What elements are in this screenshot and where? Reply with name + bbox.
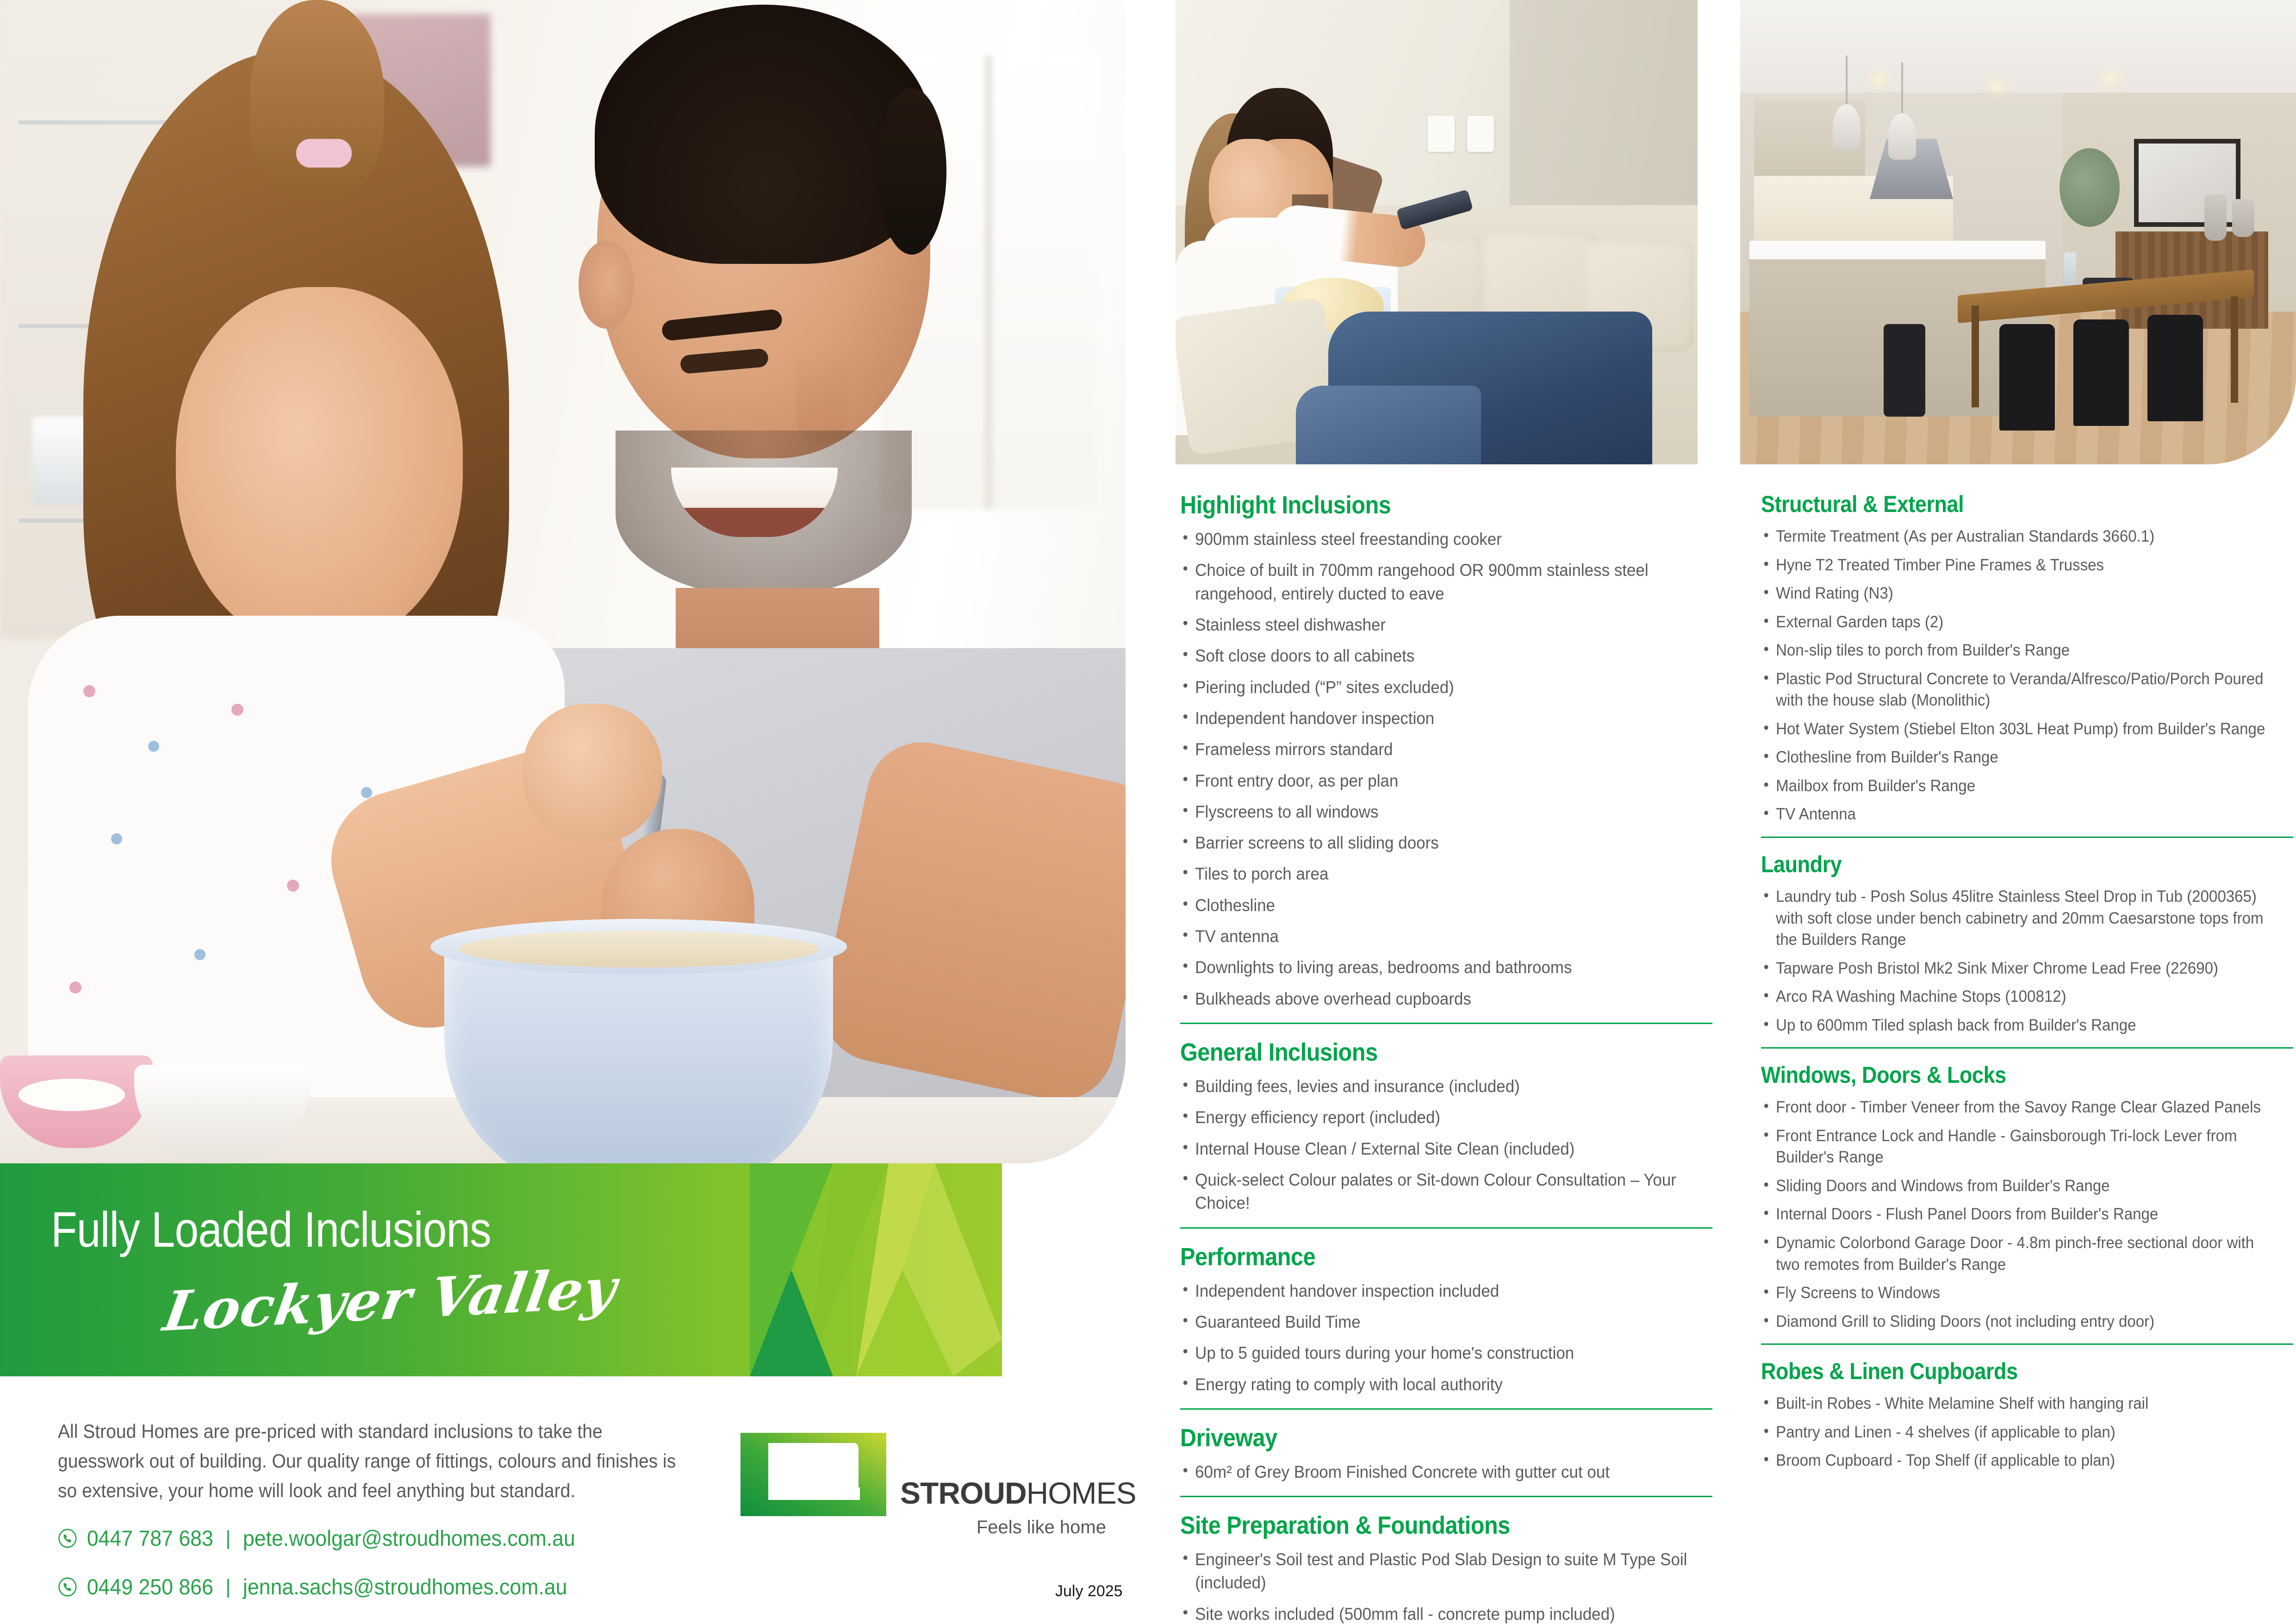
inclusion-item: 60m² of Grey Broom Finished Concrete wit…	[1180, 1461, 1687, 1484]
banner-chevron-pattern	[750, 1163, 1002, 1376]
girl-hand	[523, 704, 662, 843]
contact-phone[interactable]: 0449 250 866	[87, 1574, 213, 1599]
inclusion-item: Independent handover inspection included	[1180, 1280, 1687, 1303]
ceiling	[1740, 0, 2296, 106]
inclusion-item: Up to 600mm Tiled splash back from Build…	[1761, 1015, 2268, 1037]
hero-banner: Fully Loaded Inclusions Lockyer Valley	[0, 1163, 1002, 1376]
banner-title: Fully Loaded Inclusions	[51, 1200, 491, 1258]
inclusion-item: Downlights to living areas, bedrooms and…	[1180, 956, 1687, 979]
decor-vase	[2232, 199, 2254, 237]
inclusion-item: Mailbox from Builder's Range	[1761, 775, 2268, 797]
logo-brand-light: HOMES	[1027, 1476, 1136, 1510]
inclusion-item: Pantry and Linen - 4 shelves (if applica…	[1761, 1422, 2268, 1443]
section-title: Structural & External	[1761, 491, 2244, 518]
dress-pattern-dot	[194, 949, 205, 960]
inclusions-column-middle: Highlight Inclusions900mm stainless stee…	[1180, 491, 1717, 1624]
bar-stool	[1884, 324, 1925, 417]
glassware	[32, 417, 88, 505]
inclusion-item: Plastic Pod Structural Concrete to Veran…	[1761, 668, 2268, 712]
section-title: Site Preparation & Foundations	[1180, 1511, 1663, 1540]
dining-chair	[2073, 319, 2129, 426]
inclusion-item: Termite Treatment (As per Australian Sta…	[1761, 526, 2268, 548]
hero-photo-father-daughter-baking	[0, 0, 1126, 1163]
intro-paragraph: All Stroud Homes are pre-priced with sta…	[58, 1417, 678, 1505]
section-divider	[1180, 1496, 1712, 1497]
inclusion-item: Stainless steel dishwasher	[1180, 613, 1687, 637]
inclusion-item: Front Entrance Lock and Handle - Gainsbo…	[1761, 1125, 2268, 1168]
dining-chair	[2147, 315, 2203, 421]
table-leg	[2231, 296, 2238, 403]
section-divider	[1761, 1047, 2293, 1049]
inclusion-item: Fly Screens to Windows	[1761, 1282, 2268, 1304]
inclusion-item: 900mm stainless steel freestanding cooke…	[1180, 528, 1687, 551]
pendant-cord	[1846, 56, 1848, 106]
dress-pattern-dot	[69, 981, 81, 993]
inclusion-item: Front entry door, as per plan	[1180, 769, 1687, 793]
contact-row-2[interactable]: 0449 250 866 | jenna.sachs@stroudhomes.c…	[58, 1574, 567, 1599]
inclusion-list: Front door - Timber Veneer from the Savo…	[1761, 1097, 2296, 1332]
dress-pattern-dot	[83, 685, 95, 697]
downlight	[2106, 74, 2116, 84]
inclusion-item: Hot Water System (Stiebel Elton 303L Hea…	[1761, 718, 2268, 740]
table-leg	[1972, 306, 1979, 407]
section-divider	[1180, 1023, 1712, 1024]
phone-icon	[58, 1528, 77, 1549]
inclusion-item: Bulkheads above overhead cupboards	[1180, 987, 1687, 1011]
inclusion-list: 60m² of Grey Broom Finished Concrete wit…	[1180, 1461, 1717, 1484]
inclusion-item: Laundry tub - Posh Solus 45litre Stainle…	[1761, 886, 2268, 951]
photo-kitchen-dining	[1740, 0, 2296, 464]
inclusion-item: Built-in Robes - White Melamine Shelf wi…	[1761, 1393, 2268, 1415]
indoor-plant	[2060, 148, 2120, 227]
man-ear	[579, 241, 634, 329]
man-smile	[671, 468, 838, 537]
inclusion-item: Piering included (“P” sites excluded)	[1180, 676, 1687, 699]
phone-icon	[58, 1577, 77, 1597]
inclusion-list: Engineer's Soil test and Plastic Pod Sla…	[1180, 1548, 1717, 1624]
inclusion-item: Up to 5 guided tours during your home's …	[1180, 1342, 1687, 1365]
dining-chair	[1999, 324, 2055, 431]
inclusion-item: Internal House Clean / External Site Cle…	[1180, 1137, 1687, 1161]
pendant-light	[1833, 104, 1860, 150]
logo-tagline: Feels like home	[977, 1517, 1106, 1538]
section-title: General Inclusions	[1180, 1038, 1663, 1067]
contact-email[interactable]: jenna.sachs@stroudhomes.com.au	[243, 1574, 567, 1599]
stroud-logo-mark-icon	[740, 1433, 886, 1516]
section-divider	[1761, 837, 2293, 838]
logo-brand-bold: STROUD	[900, 1476, 1027, 1510]
spilled-flour	[19, 1079, 125, 1111]
inclusion-list: 900mm stainless steel freestanding cooke…	[1180, 528, 1717, 1011]
pendant-cord	[1901, 62, 1903, 116]
section-title: Robes & Linen Cupboards	[1761, 1358, 2244, 1385]
dress-pattern-dot	[287, 880, 299, 892]
contact-phone[interactable]: 0447 787 683	[87, 1525, 213, 1551]
section-title: Laundry	[1761, 851, 2244, 878]
inclusion-list: Independent handover inspection included…	[1180, 1280, 1717, 1396]
hero-photo-scene	[0, 0, 1126, 1163]
inclusion-list: Built-in Robes - White Melamine Shelf wi…	[1761, 1393, 2296, 1472]
inclusion-list: Laundry tub - Posh Solus 45litre Stainle…	[1761, 886, 2296, 1036]
inclusion-item: Sliding Doors and Windows from Builder's…	[1761, 1175, 2268, 1197]
inclusion-item: Building fees, levies and insurance (inc…	[1180, 1075, 1687, 1098]
inclusion-item: Dynamic Colorbond Garage Door - 4.8m pin…	[1761, 1232, 2268, 1275]
inclusion-list: Building fees, levies and insurance (inc…	[1180, 1075, 1717, 1215]
contact-email[interactable]: pete.woolgar@stroudhomes.com.au	[243, 1525, 575, 1551]
photo-couple-watching-tv	[1176, 0, 1698, 464]
stroud-homes-logo: STROUDHOMES Feels like home	[740, 1433, 1106, 1567]
inclusion-item: Wind Rating (N3)	[1761, 583, 2268, 605]
blue-jeans-second	[1296, 386, 1481, 464]
section-title: Driveway	[1180, 1424, 1663, 1452]
inclusion-item: Tiles to porch area	[1180, 862, 1687, 886]
downlight	[1874, 74, 1885, 84]
dress-pattern-dot	[111, 833, 122, 844]
banner-subtitle: Lockyer Valley	[159, 1256, 621, 1343]
inclusion-item: Guaranteed Build Time	[1180, 1311, 1687, 1334]
pendant-light	[1888, 113, 1916, 160]
inclusion-item: Frameless mirrors standard	[1180, 738, 1687, 761]
inclusion-item: External Garden taps (2)	[1761, 612, 2268, 633]
inclusion-item: Clothesline	[1180, 894, 1687, 917]
inclusion-item: Energy efficiency report (included)	[1180, 1106, 1687, 1129]
inclusion-item: Non-slip tiles to porch from Builder's R…	[1761, 640, 2268, 662]
inclusion-item: Engineer's Soil test and Plastic Pod Sla…	[1180, 1548, 1687, 1595]
contact-row-1[interactable]: 0447 787 683 | pete.woolgar@stroudhomes.…	[58, 1525, 575, 1551]
contact-separator: |	[223, 1575, 233, 1599]
section-divider	[1180, 1408, 1712, 1410]
hair-tie	[296, 139, 352, 168]
inclusion-item: Barrier screens to all sliding doors	[1180, 831, 1687, 855]
light-switch	[1428, 116, 1455, 152]
inclusion-item: Hyne T2 Treated Timber Pine Frames & Tru…	[1761, 555, 2268, 576]
date-stamp: July 2025	[1055, 1582, 1123, 1600]
inclusion-item: Site works included (500mm fall - concre…	[1180, 1603, 1687, 1624]
inclusions-column-right: Structural & ExternalTermite Treatment (…	[1761, 491, 2296, 1479]
inclusion-item: Diamond Grill to Sliding Doors (not incl…	[1761, 1311, 2268, 1333]
inclusion-item: Front door - Timber Veneer from the Savo…	[1761, 1097, 2268, 1118]
section-title: Performance	[1180, 1243, 1663, 1271]
inclusion-item: Quick-select Colour palates or Sit-down …	[1180, 1168, 1687, 1215]
power-outlet	[1467, 116, 1494, 152]
inclusion-item: Clothesline from Builder's Range	[1761, 747, 2268, 768]
inclusion-item: Soft close doors to all cabinets	[1180, 644, 1687, 668]
inclusion-item: Tapware Posh Bristol Mk2 Sink Mixer Chro…	[1761, 958, 2268, 980]
brochure-page: Fully Loaded Inclusions Lockyer Valley A…	[0, 0, 2296, 1624]
inclusion-item: Internal Doors - Flush Panel Doors from …	[1761, 1204, 2268, 1225]
inclusion-list: Termite Treatment (As per Australian Sta…	[1761, 526, 2296, 825]
inclusion-item: Flyscreens to all windows	[1180, 800, 1687, 824]
section-divider	[1180, 1227, 1712, 1229]
inclusion-item: Independent handover inspection	[1180, 707, 1687, 730]
section-divider	[1761, 1343, 2293, 1345]
downlight	[1992, 81, 2003, 91]
logo-wordmark: STROUDHOMES	[900, 1475, 1136, 1511]
kitchen-benchtop	[1749, 241, 2046, 261]
inclusion-item: Broom Cupboard - Top Shelf (if applicabl…	[1761, 1450, 2268, 1472]
section-title: Highlight Inclusions	[1180, 491, 1663, 519]
inclusion-item: Arco RA Washing Machine Stops (100812)	[1761, 986, 2268, 1008]
mixing-bowl-batter	[458, 931, 819, 968]
dress-pattern-dot	[231, 704, 243, 716]
inclusion-item: TV antenna	[1180, 925, 1687, 948]
girl-ponytail	[250, 0, 384, 199]
section-title: Windows, Doors & Locks	[1761, 1062, 2244, 1088]
decor-vase	[2204, 194, 2227, 241]
inclusion-item: TV Antenna	[1761, 804, 2268, 825]
contact-separator: |	[223, 1527, 233, 1550]
inclusion-item: Energy rating to comply with local autho…	[1180, 1373, 1687, 1396]
girl-face	[176, 287, 463, 648]
man-hair	[595, 5, 933, 264]
inclusion-item: Choice of built in 700mm rangehood OR 90…	[1180, 559, 1687, 606]
dress-pattern-dot	[148, 741, 159, 752]
dress-pattern-dot	[361, 787, 372, 798]
